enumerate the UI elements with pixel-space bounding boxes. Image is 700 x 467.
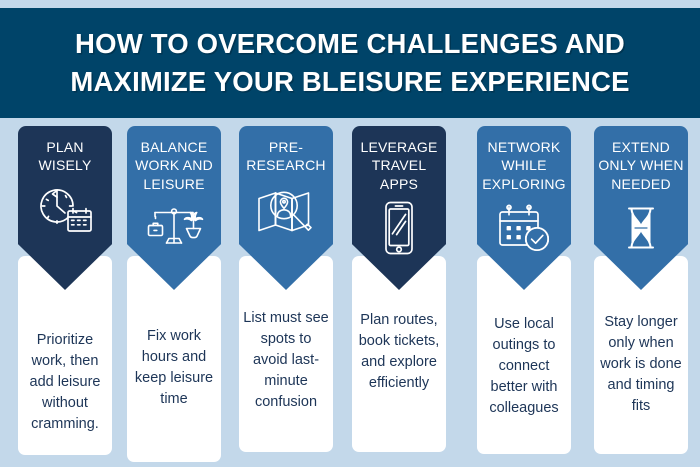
card-title: PRE-RESEARCH: [239, 138, 333, 175]
page-title-line-2: MAXIMIZE YOUR BLEISURE EXPERIENCE: [70, 64, 629, 100]
smartphone-icon: [368, 199, 430, 257]
card-title: PLAN WISELY: [18, 138, 112, 175]
page-title-line-1: HOW TO OVERCOME CHALLENGES AND: [75, 26, 625, 62]
card-title: BALANCE WORK AND LEISURE: [127, 138, 221, 193]
header-banner: HOW TO OVERCOME CHALLENGES AND MAXIMIZE …: [0, 8, 700, 118]
clock-calendar-icon: [34, 181, 96, 239]
tips-card-row: Prioritize work, then add leisure withou…: [0, 126, 700, 462]
map-magnifier-pin-icon: [255, 181, 317, 239]
card-title: LEVERAGE TRAVEL APPS: [352, 138, 446, 193]
card-title: EXTEND ONLY WHEN NEEDED: [594, 138, 688, 193]
hourglass-icon: [610, 199, 672, 257]
calendar-check-icon: [493, 199, 555, 257]
card-title: NETWORK WHILE EXPLORING: [477, 138, 571, 193]
balance-scale-briefcase-palm-icon: [143, 199, 205, 257]
